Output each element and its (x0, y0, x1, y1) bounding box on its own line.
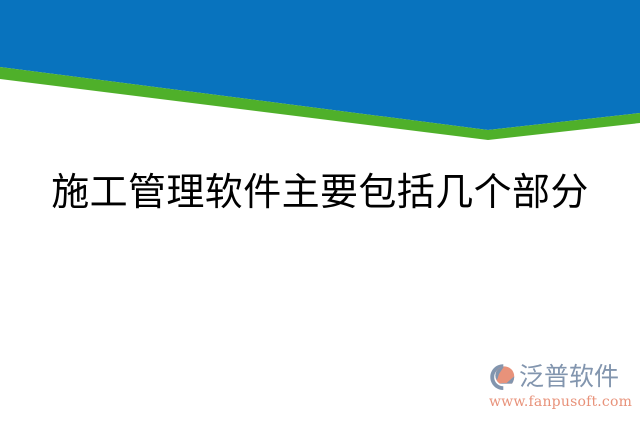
page-title: 施工管理软件主要包括几个部分 (0, 168, 640, 216)
brand-url: www.fanpusoft.com (489, 393, 632, 411)
fanpu-circle-mark-icon (488, 362, 518, 392)
banner-blue-shape (0, 0, 640, 130)
brand-wordmark: 泛普软件 (519, 363, 619, 391)
header-chevron-banner (0, 0, 640, 140)
slide-canvas: 施工管理软件主要包括几个部分 泛普软件 www.fanpusoft.com (0, 0, 640, 427)
banner-green-stripe (0, 67, 640, 140)
brand-logo-row: 泛普软件 (488, 360, 619, 394)
brand-logo: 泛普软件 www.fanpusoft.com (488, 360, 634, 422)
page-title-text: 施工管理软件主要包括几个部分 (51, 168, 589, 216)
